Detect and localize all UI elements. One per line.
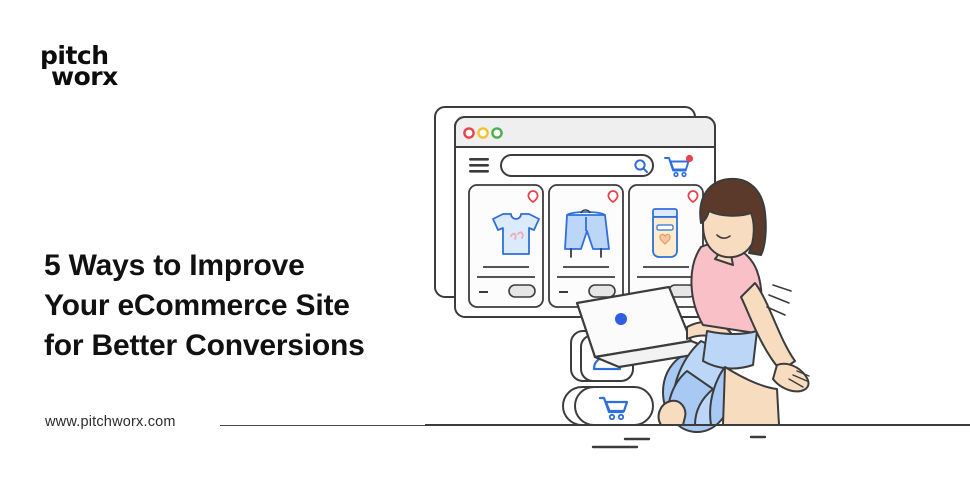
heart-icon bbox=[688, 191, 697, 202]
brand-dot bbox=[615, 313, 627, 325]
ground-accent-marks bbox=[593, 437, 765, 447]
page-title: 5 Ways to Improve Your eCommerce Site fo… bbox=[44, 246, 474, 366]
product-card-shorts bbox=[549, 185, 623, 307]
brand-logo[interactable]: pitch worx bbox=[40, 46, 180, 87]
headline-line-3: for Better Conversions bbox=[44, 326, 474, 366]
headline-line-2: Your eCommerce Site bbox=[44, 286, 474, 326]
website-url[interactable]: www.pitchworx.com bbox=[45, 414, 176, 430]
lotion-tube-icon bbox=[653, 209, 677, 257]
maximize-dot bbox=[492, 128, 501, 137]
minimize-dot bbox=[478, 128, 487, 137]
heart-icon bbox=[528, 191, 537, 202]
headline-line-1: 5 Ways to Improve bbox=[44, 246, 474, 286]
heart-icon bbox=[608, 191, 617, 202]
logo-text-line2: worx bbox=[40, 67, 180, 88]
ecommerce-browser-window bbox=[455, 117, 715, 317]
hamburger-menu-icon bbox=[469, 158, 489, 173]
hero-illustration bbox=[425, 95, 970, 455]
close-dot bbox=[464, 128, 473, 137]
product-card-tshirt bbox=[469, 185, 543, 307]
search-input bbox=[501, 155, 653, 176]
cart-card bbox=[563, 387, 653, 425]
traffic-light-buttons bbox=[464, 128, 501, 137]
cart-badge bbox=[686, 155, 693, 162]
poster-canvas: pitch worx 5 Ways to Improve Your eComme… bbox=[0, 0, 970, 485]
